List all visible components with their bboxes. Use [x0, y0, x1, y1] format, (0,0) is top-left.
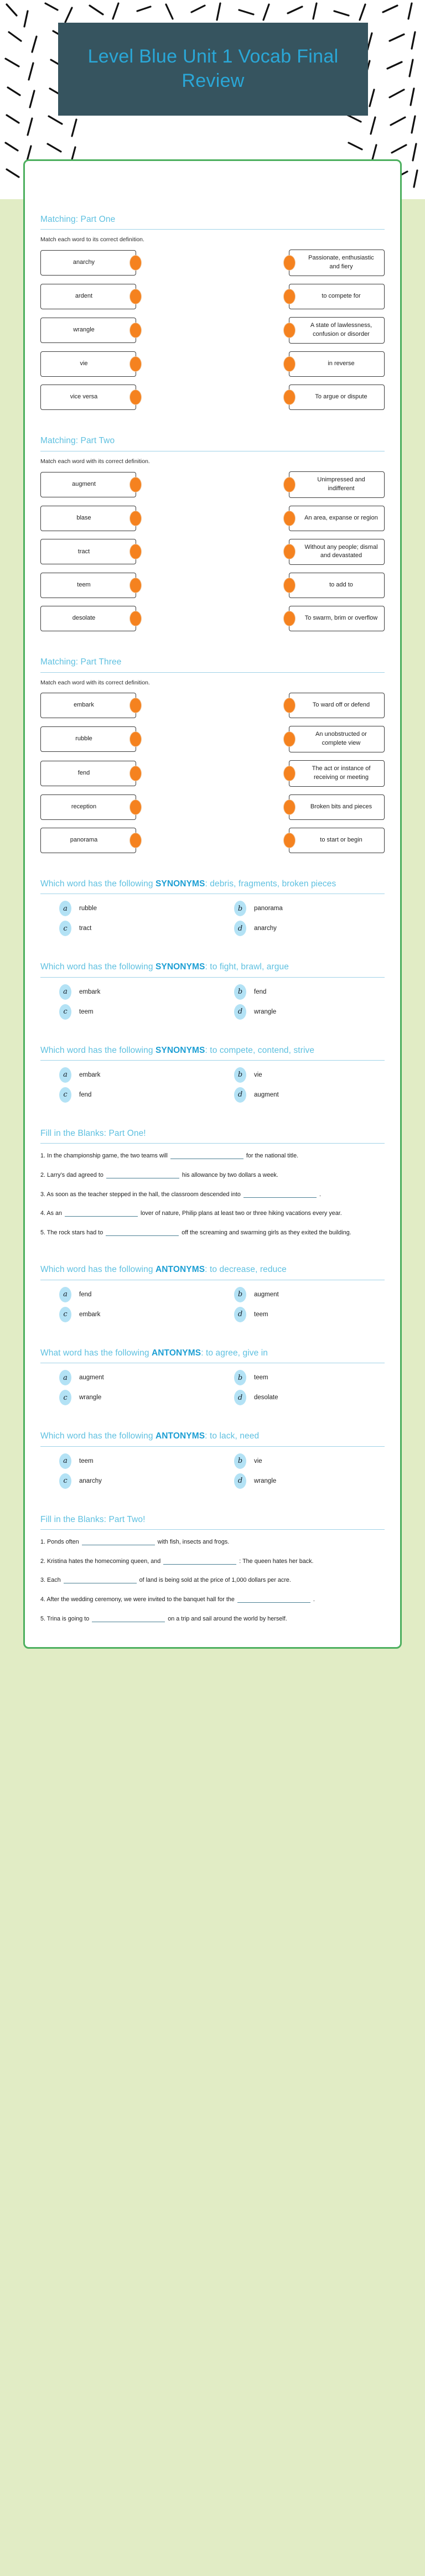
choice-label: rubble	[79, 905, 97, 912]
match-connector-dot[interactable]	[284, 578, 295, 593]
match-word-label: vie	[80, 360, 87, 368]
choice-letter-bubble: a	[59, 1287, 71, 1302]
match-word-label: rubble	[75, 735, 92, 744]
fill-blank-item: 4. As anlover of nature, Philip plans at…	[40, 1208, 385, 1220]
choice-option-b[interactable]: bvie	[215, 1067, 385, 1083]
fill-blank-suffix: of land is being sold at the price of 1,…	[139, 1577, 291, 1583]
section-matching-part-two: Matching: Part TwoMatch each word with i…	[40, 435, 385, 631]
choice-letter-bubble: b	[234, 1287, 246, 1302]
match-connector-dot[interactable]	[284, 800, 295, 814]
choice-letter-bubble: c	[59, 1004, 71, 1020]
section-heading: Which word has the following SYNONYMS: t…	[40, 962, 385, 977]
matching-row: vice versaTo argue or dispute	[40, 385, 385, 410]
match-definition-box[interactable]: Without any people; dismal and devastate…	[289, 539, 385, 565]
heading-prefix: Which word has the following	[40, 1431, 156, 1441]
match-definition-box[interactable]: To ward off or defend	[289, 693, 385, 718]
match-definition-box[interactable]: Passionate, enthusiastic and fiery	[289, 250, 385, 276]
choice-letter-bubble: a	[59, 1067, 71, 1083]
choice-option-c[interactable]: canarchy	[40, 1473, 210, 1489]
choice-label: vie	[254, 1072, 262, 1078]
match-definition-label: An area, expanse or region	[304, 514, 378, 523]
choice-option-d[interactable]: daugment	[215, 1087, 385, 1103]
fill-blank-input[interactable]	[106, 1178, 179, 1178]
fill-blank-item: 4. After the wedding ceremony, we were i…	[40, 1594, 385, 1606]
section-synonyms-fight: Which word has the following SYNONYMS: t…	[40, 962, 385, 1019]
match-definition-box[interactable]: to start or begin	[289, 828, 385, 853]
fill-blank-list: 1. In the championship game, the two tea…	[40, 1150, 385, 1239]
choice-letter-bubble: c	[59, 1390, 71, 1405]
match-connector-dot[interactable]	[130, 256, 141, 270]
match-word-label: reception	[71, 803, 96, 812]
fill-blank-input[interactable]	[82, 1545, 155, 1545]
matching-row: rubbleAn unobstructed or complete view	[40, 726, 385, 752]
match-definition-box[interactable]: An area, expanse or region	[289, 506, 385, 531]
match-word-box[interactable]: panorama	[40, 828, 136, 853]
choice-option-d[interactable]: dwrangle	[215, 1004, 385, 1020]
match-connector-dot[interactable]	[284, 477, 295, 492]
match-word-label: fend	[78, 769, 90, 778]
choice-letter-bubble: c	[59, 1307, 71, 1322]
choice-letter-bubble: d	[234, 1390, 246, 1405]
choice-option-b[interactable]: bpanorama	[215, 901, 385, 916]
choice-label: teem	[79, 1458, 94, 1464]
match-definition-label: to compete for	[322, 292, 360, 301]
match-connector-dot[interactable]	[284, 833, 295, 848]
fill-blank-item: 5. Trina is going toon a trip and sail a…	[40, 1613, 385, 1625]
section-instruction: Match each word to its correct definitio…	[40, 236, 385, 243]
choice-letter-bubble: d	[234, 921, 246, 936]
match-connector-dot[interactable]	[284, 390, 295, 404]
match-definition-box[interactable]: An unobstructed or complete view	[289, 726, 385, 752]
fill-blank-item: 2. Larry’s dad agreed tohis allowance by…	[40, 1170, 385, 1182]
fill-blank-input[interactable]	[92, 1622, 165, 1622]
heading-prefix: What word has the following	[40, 1348, 152, 1358]
choice-letter-bubble: a	[59, 1370, 71, 1385]
choice-letter-bubble: c	[59, 921, 71, 936]
match-word-label: blase	[76, 514, 91, 523]
matching-row: ardentto compete for	[40, 284, 385, 309]
choice-label: wrangle	[254, 1478, 276, 1484]
match-connector-dot[interactable]	[284, 289, 295, 304]
match-connector-dot[interactable]	[130, 323, 141, 337]
fill-blank-suffix: .	[313, 1596, 315, 1603]
choice-label: fend	[79, 1291, 91, 1298]
section-divider	[40, 229, 385, 230]
page-title: Level Blue Unit 1 Vocab Final Review	[58, 45, 368, 93]
match-definition-box[interactable]: Broken bits and pieces	[289, 794, 385, 820]
fill-blank-prefix: 5. Trina is going to	[40, 1616, 89, 1622]
match-definition-label: An unobstructed or complete view	[304, 730, 379, 748]
choice-letter-bubble: c	[59, 1087, 71, 1103]
match-definition-label: to start or begin	[320, 836, 362, 845]
choice-letter-bubble: a	[59, 1453, 71, 1469]
match-word-label: vice versa	[70, 393, 98, 402]
match-connector-dot[interactable]	[284, 766, 295, 781]
matching-row: tractWithout any people; dismal and deva…	[40, 539, 385, 565]
choice-option-a[interactable]: afend	[40, 1287, 210, 1302]
match-definition-label: Without any people; dismal and devastate…	[304, 543, 379, 561]
choice-grid: afendbaugmentcembarkdteem	[40, 1287, 385, 1322]
match-connector-dot[interactable]	[130, 511, 141, 526]
fill-blank-suffix: on a trip and sail around the world by h…	[168, 1616, 287, 1622]
fill-blank-suffix: for the national title.	[246, 1152, 298, 1159]
fill-blank-suffix: .	[319, 1191, 321, 1198]
choice-grid: ateembviecanarchydwrangle	[40, 1453, 385, 1489]
choice-label: embark	[79, 1311, 100, 1318]
choice-option-b[interactable]: bfend	[215, 984, 385, 1000]
choice-option-c[interactable]: cfend	[40, 1087, 210, 1103]
match-connector-dot[interactable]	[284, 511, 295, 526]
section-antonyms-lack: Which word has the following ANTONYMS: t…	[40, 1431, 385, 1488]
match-definition-label: in reverse	[328, 360, 354, 368]
section-antonyms-decrease: Which word has the following ANTONYMS: t…	[40, 1264, 385, 1322]
match-word-box[interactable]: rubble	[40, 726, 136, 752]
matching-list: augmentUnimpressed and indifferentblaseA…	[40, 471, 385, 632]
match-connector-dot[interactable]	[130, 611, 141, 626]
fill-blank-prefix: 3. Each	[40, 1577, 61, 1583]
match-definition-label: The act or instance of receiving or meet…	[304, 765, 379, 782]
choice-option-a[interactable]: aembark	[40, 1067, 210, 1083]
match-word-label: tract	[78, 548, 90, 557]
match-definition-label: Broken bits and pieces	[310, 803, 372, 812]
match-word-label: panorama	[70, 836, 98, 845]
heading-keyword: SYNONYMS	[156, 1046, 205, 1055]
match-definition-box[interactable]: to compete for	[289, 284, 385, 309]
fill-blank-input[interactable]	[64, 1583, 137, 1583]
fill-blank-prefix: 3. As soon as the teacher stepped in the…	[40, 1191, 241, 1198]
matching-row: desolateTo swarm, brim or overflow	[40, 606, 385, 631]
section-heading: Matching: Part One	[40, 214, 385, 229]
match-connector-dot[interactable]	[130, 390, 141, 404]
choice-label: anarchy	[254, 925, 277, 932]
section-heading: Matching: Part Two	[40, 435, 385, 450]
match-connector-dot[interactable]	[130, 289, 141, 304]
match-connector-dot[interactable]	[130, 357, 141, 371]
match-connector-dot[interactable]	[284, 611, 295, 626]
matching-row: panoramato start or begin	[40, 828, 385, 853]
fill-blank-suffix: : The queen hates her back.	[239, 1558, 313, 1565]
choice-letter-bubble: b	[234, 1067, 246, 1083]
choice-option-b[interactable]: bvie	[215, 1453, 385, 1469]
choice-label: anarchy	[79, 1478, 102, 1484]
section-instruction: Match each word with its correct definit…	[40, 458, 385, 465]
match-word-box[interactable]: vice versa	[40, 385, 136, 410]
fill-blank-prefix: 4. As an	[40, 1210, 62, 1217]
choice-letter-bubble: b	[234, 1453, 246, 1469]
choice-label: teem	[254, 1311, 268, 1318]
choice-label: wrangle	[79, 1394, 101, 1401]
match-definition-label: Unimpressed and indifferent	[304, 476, 379, 494]
fill-blank-prefix: 1. In the championship game, the two tea…	[40, 1152, 168, 1159]
match-connector-dot[interactable]	[130, 477, 141, 492]
match-word-box[interactable]: teem	[40, 573, 136, 598]
fill-blank-suffix: with fish, insects and frogs.	[158, 1539, 230, 1545]
match-word-box[interactable]: ardent	[40, 284, 136, 309]
worksheet-card: Matching: Part OneMatch each word to its…	[23, 159, 402, 1649]
choice-option-c[interactable]: ctract	[40, 921, 210, 936]
choice-label: embark	[79, 989, 100, 995]
heading-keyword: ANTONYMS	[156, 1431, 205, 1441]
heading-keyword: ANTONYMS	[156, 1265, 205, 1274]
choice-label: fend	[79, 1092, 91, 1098]
match-word-box[interactable]: embark	[40, 693, 136, 718]
choice-option-d[interactable]: ddesolate	[215, 1390, 385, 1405]
match-definition-label: to add to	[329, 581, 353, 590]
choice-grid: aaugmentbteemcwrangleddesolate	[40, 1370, 385, 1405]
section-heading: Which word has the following ANTONYMS: t…	[40, 1431, 385, 1446]
choice-option-d[interactable]: dteem	[215, 1307, 385, 1322]
choice-option-a[interactable]: aembark	[40, 984, 210, 1000]
match-word-label: desolate	[72, 614, 96, 623]
match-definition-box[interactable]: in reverse	[289, 351, 385, 377]
heading-suffix: : to compete, contend, strive	[205, 1046, 314, 1055]
heading-keyword: SYNONYMS	[156, 962, 205, 972]
choice-letter-bubble: d	[234, 1004, 246, 1020]
match-connector-dot[interactable]	[284, 256, 295, 270]
heading-suffix: : debris, fragments, broken pieces	[205, 879, 336, 889]
choice-option-a[interactable]: arubble	[40, 901, 210, 916]
match-word-box[interactable]: augment	[40, 472, 136, 497]
fill-blank-item: 3. Eachof land is being sold at the pric…	[40, 1575, 385, 1587]
section-divider	[40, 977, 385, 978]
match-word-label: wrangle	[73, 326, 95, 335]
choice-grid: arubblebpanoramactractdanarchy	[40, 901, 385, 936]
section-divider	[40, 1363, 385, 1363]
fill-blank-input[interactable]	[65, 1216, 138, 1217]
match-word-box[interactable]: blase	[40, 506, 136, 531]
fill-blank-prefix: 2. Kristina hates the homecoming queen, …	[40, 1558, 160, 1565]
matching-row: wrangleA state of lawlessness, confusion…	[40, 317, 385, 344]
section-divider	[40, 672, 385, 673]
title-banner: Level Blue Unit 1 Vocab Final Review	[58, 23, 368, 116]
heading-suffix: : to fight, brawl, argue	[205, 962, 288, 972]
fill-blank-prefix: 1. Ponds often	[40, 1539, 79, 1545]
section-heading: Which word has the following SYNONYMS: d…	[40, 879, 385, 894]
matching-row: anarchyPassionate, enthusiastic and fier…	[40, 250, 385, 276]
fill-blank-input[interactable]	[106, 1235, 179, 1236]
section-synonyms-debris: Which word has the following SYNONYMS: d…	[40, 879, 385, 936]
match-word-label: augment	[72, 480, 96, 489]
section-divider	[40, 1060, 385, 1061]
match-word-label: ardent	[75, 292, 92, 301]
fill-blank-item: 1. In the championship game, the two tea…	[40, 1150, 385, 1162]
section-divider	[40, 1143, 385, 1144]
choice-option-d[interactable]: danarchy	[215, 921, 385, 936]
match-connector-dot[interactable]	[130, 833, 141, 848]
section-divider	[40, 1529, 385, 1530]
match-connector-dot[interactable]	[284, 357, 295, 371]
match-connector-dot[interactable]	[130, 698, 141, 713]
match-word-box[interactable]: wrangle	[40, 318, 136, 343]
section-heading: Which word has the following SYNONYMS: t…	[40, 1045, 385, 1060]
fill-blank-item: 2. Kristina hates the homecoming queen, …	[40, 1556, 385, 1568]
match-definition-box[interactable]: The act or instance of receiving or meet…	[289, 760, 385, 787]
matching-row: viein reverse	[40, 351, 385, 377]
choice-label: desolate	[254, 1394, 278, 1401]
heading-prefix: Which word has the following	[40, 1046, 156, 1055]
match-definition-box[interactable]: To swarm, brim or overflow	[289, 606, 385, 631]
choice-label: fend	[254, 989, 266, 995]
section-instruction: Match each word with its correct definit…	[40, 679, 385, 686]
choice-grid: aembarkbfendcteemdwrangle	[40, 984, 385, 1020]
match-connector-dot[interactable]	[130, 544, 141, 559]
fill-blank-prefix: 2. Larry’s dad agreed to	[40, 1172, 103, 1178]
section-synonyms-compete: Which word has the following SYNONYMS: t…	[40, 1045, 385, 1103]
choice-letter-bubble: b	[234, 984, 246, 1000]
fill-blank-item: 3. As soon as the teacher stepped in the…	[40, 1189, 385, 1201]
match-connector-dot[interactable]	[284, 323, 295, 337]
section-fill-blanks-part-one: Fill in the Blanks: Part One!1. In the c…	[40, 1128, 385, 1239]
section-heading: Matching: Part Three	[40, 657, 385, 672]
choice-label: panorama	[254, 905, 283, 912]
choice-label: teem	[254, 1374, 268, 1381]
section-divider	[40, 1446, 385, 1447]
heading-suffix: : to lack, need	[205, 1431, 259, 1441]
choice-option-a[interactable]: ateem	[40, 1453, 210, 1469]
match-word-box[interactable]: anarchy	[40, 250, 136, 276]
fill-blank-prefix: 5. The rock stars had to	[40, 1229, 103, 1236]
match-definition-label: Passionate, enthusiastic and fiery	[304, 254, 379, 272]
worksheet-page: Level Blue Unit 1 Vocab Final Review Mat…	[0, 0, 425, 2576]
match-definition-box[interactable]: to add to	[289, 573, 385, 598]
choice-grid: aembarkbviecfenddaugment	[40, 1067, 385, 1103]
choice-letter-bubble: b	[234, 901, 246, 916]
choice-letter-bubble: c	[59, 1473, 71, 1489]
choice-label: augment	[254, 1291, 279, 1298]
fill-blank-input[interactable]	[170, 1159, 243, 1159]
heading-prefix: Which word has the following	[40, 1265, 156, 1274]
match-definition-label: To argue or dispute	[315, 393, 367, 402]
match-definition-label: To swarm, brim or overflow	[305, 614, 377, 623]
choice-option-c[interactable]: cteem	[40, 1004, 210, 1020]
fill-blank-input[interactable]	[237, 1602, 310, 1603]
match-word-box[interactable]: fend	[40, 761, 136, 786]
matching-list: embarkTo ward off or defendrubbleAn unob…	[40, 693, 385, 853]
section-antonyms-agree: What word has the following ANTONYMS: to…	[40, 1348, 385, 1405]
choice-label: teem	[79, 1009, 94, 1015]
choice-label: wrangle	[254, 1009, 276, 1015]
matching-row: augmentUnimpressed and indifferent	[40, 471, 385, 498]
match-connector-dot[interactable]	[284, 732, 295, 746]
fill-blank-suffix: off the screaming and swarming girls as …	[182, 1229, 351, 1236]
choice-option-b[interactable]: baugment	[215, 1287, 385, 1302]
match-word-box[interactable]: reception	[40, 794, 136, 820]
section-heading: Fill in the Blanks: Part One!	[40, 1128, 385, 1143]
section-matching-part-one: Matching: Part OneMatch each word to its…	[40, 214, 385, 410]
section-matching-part-three: Matching: Part ThreeMatch each word with…	[40, 657, 385, 853]
matching-row: teemto add to	[40, 573, 385, 598]
choice-label: augment	[254, 1092, 279, 1098]
match-connector-dot[interactable]	[130, 800, 141, 814]
choice-letter-bubble: a	[59, 984, 71, 1000]
choice-label: vie	[254, 1458, 262, 1464]
matching-list: anarchyPassionate, enthusiastic and fier…	[40, 250, 385, 410]
match-word-label: teem	[77, 581, 90, 590]
section-fill-blanks-part-two: Fill in the Blanks: Part Two!1. Ponds of…	[40, 1514, 385, 1625]
match-connector-dot[interactable]	[130, 766, 141, 781]
fill-blank-suffix: lover of nature, Philip plans at least t…	[141, 1210, 342, 1217]
fill-blank-list: 1. Ponds oftenwith fish, insects and fro…	[40, 1536, 385, 1625]
match-definition-box[interactable]: To argue or dispute	[289, 385, 385, 410]
fill-blank-input[interactable]	[163, 1564, 236, 1565]
fill-blank-input[interactable]	[243, 1197, 317, 1198]
match-word-label: anarchy	[73, 258, 95, 267]
section-heading: Which word has the following ANTONYMS: t…	[40, 1264, 385, 1279]
match-connector-dot[interactable]	[284, 698, 295, 713]
choice-letter-bubble: d	[234, 1473, 246, 1489]
match-word-box[interactable]: desolate	[40, 606, 136, 631]
choice-letter-bubble: b	[234, 1370, 246, 1385]
match-word-label: embark	[74, 701, 94, 710]
fill-blank-item: 1. Ponds oftenwith fish, insects and fro…	[40, 1536, 385, 1549]
section-divider	[40, 894, 385, 894]
fill-blank-item: 5. The rock stars had tooff the screamin…	[40, 1227, 385, 1239]
choice-option-d[interactable]: dwrangle	[215, 1473, 385, 1489]
choice-option-c[interactable]: cwrangle	[40, 1390, 210, 1405]
match-connector-dot[interactable]	[130, 578, 141, 593]
match-definition-box[interactable]: A state of lawlessness, confusion or dis…	[289, 317, 385, 344]
section-divider	[40, 1280, 385, 1280]
section-heading: Fill in the Blanks: Part Two!	[40, 1514, 385, 1529]
choice-letter-bubble: a	[59, 901, 71, 916]
matching-row: embarkTo ward off or defend	[40, 693, 385, 718]
match-connector-dot[interactable]	[130, 732, 141, 746]
match-definition-box[interactable]: Unimpressed and indifferent	[289, 471, 385, 498]
section-divider	[40, 451, 385, 451]
choice-label: augment	[79, 1374, 104, 1381]
choice-label: tract	[79, 925, 91, 932]
heading-prefix: Which word has the following	[40, 879, 156, 889]
heading-prefix: Which word has the following	[40, 962, 156, 972]
choice-option-b[interactable]: bteem	[215, 1370, 385, 1385]
choice-option-a[interactable]: aaugment	[40, 1370, 210, 1385]
matching-row: blaseAn area, expanse or region	[40, 506, 385, 531]
match-connector-dot[interactable]	[284, 544, 295, 559]
choice-label: embark	[79, 1072, 100, 1078]
heading-keyword: SYNONYMS	[156, 879, 205, 889]
match-definition-label: A state of lawlessness, confusion or dis…	[304, 321, 379, 339]
fill-blank-suffix: his allowance by two dollars a week.	[182, 1172, 278, 1178]
fill-blank-prefix: 4. After the wedding ceremony, we were i…	[40, 1596, 235, 1603]
choice-option-c[interactable]: cembark	[40, 1307, 210, 1322]
choice-letter-bubble: d	[234, 1307, 246, 1322]
match-word-box[interactable]: vie	[40, 351, 136, 377]
choice-letter-bubble: d	[234, 1087, 246, 1103]
matching-row: fendThe act or instance of receiving or …	[40, 760, 385, 787]
heading-keyword: ANTONYMS	[152, 1348, 201, 1358]
match-word-box[interactable]: tract	[40, 539, 136, 564]
heading-suffix: : to agree, give in	[201, 1348, 268, 1358]
match-definition-label: To ward off or defend	[313, 701, 370, 710]
heading-suffix: : to decrease, reduce	[205, 1265, 287, 1274]
section-heading: What word has the following ANTONYMS: to…	[40, 1348, 385, 1363]
matching-row: receptionBroken bits and pieces	[40, 794, 385, 820]
